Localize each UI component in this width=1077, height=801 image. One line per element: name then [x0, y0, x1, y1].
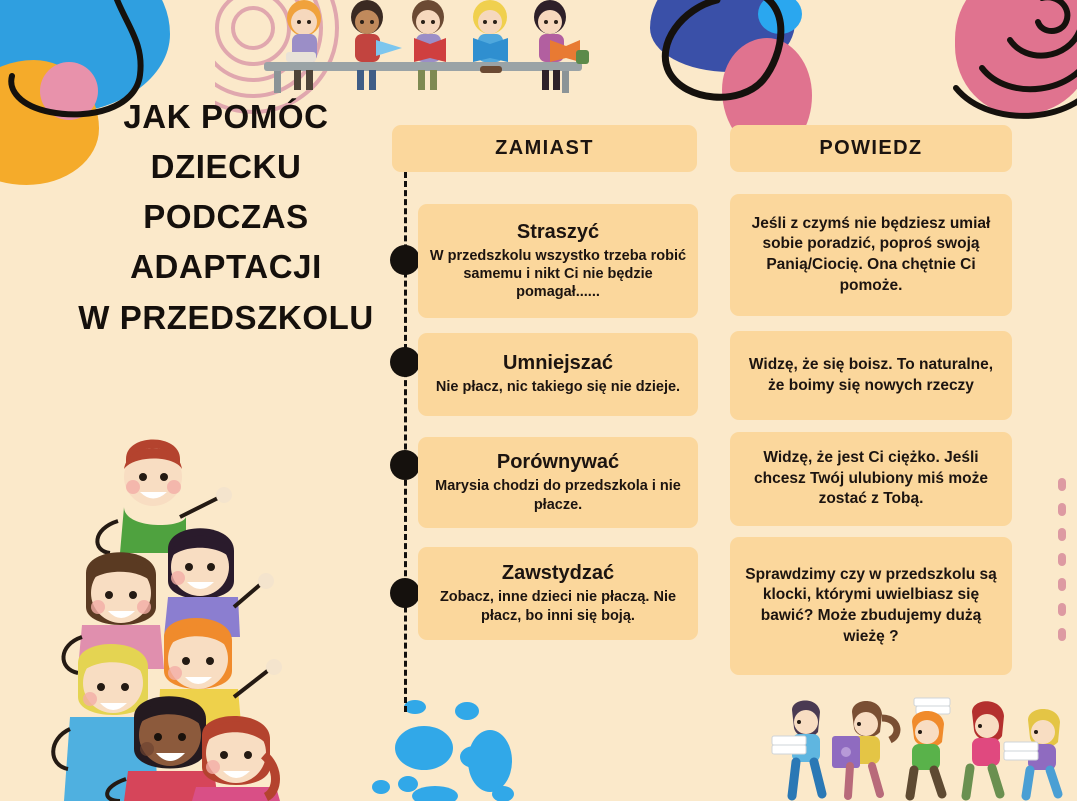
infographic-poster: JAK POMÓC DZIECKU PODCZAS ADAPTACJI W PR…	[0, 0, 1077, 801]
title-line: PODCZAS	[56, 192, 396, 242]
instead-title: Straszyć	[517, 221, 599, 244]
say-card: Jeśli z czymś nie będziesz umiał sobie p…	[730, 194, 1012, 316]
pink-dot	[1058, 603, 1066, 616]
column-header-powiedz: POWIEDZ	[730, 125, 1012, 172]
column-header-zamiast: ZAMIAST	[392, 125, 697, 172]
pink-blob-right-decoration	[955, 0, 1077, 115]
timeline-bullet	[390, 245, 420, 275]
black-loop-decoration	[655, 0, 845, 121]
say-body: Jeśli z czymś nie będziesz umiał sobie p…	[740, 214, 1002, 296]
instead-body: W przedszkolu wszystko trzeba robić same…	[428, 247, 688, 302]
pink-dot	[1058, 478, 1066, 491]
cyan-circle-decoration	[758, 0, 802, 34]
children-reading-on-bench-illustration	[250, 0, 595, 96]
title-line: DZIECKU	[56, 142, 396, 192]
instead-body: Nie płacz, nic takiego się nie dzieje.	[436, 378, 680, 396]
pink-dot	[1058, 528, 1066, 541]
pink-dot	[1058, 578, 1066, 591]
title-line: W PRZEDSZKOLU	[56, 293, 396, 343]
pink-dot	[1058, 503, 1066, 516]
say-body: Widzę, że jest Ci ciężko. Jeśli chcesz T…	[740, 448, 1002, 510]
say-body: Widzę, że się boisz. To naturalne, że bo…	[740, 355, 1002, 396]
instead-card: Zawstydzać Zobacz, inne dzieci nie płacz…	[418, 547, 698, 640]
blue-splatter-blob	[468, 730, 512, 792]
page-title: JAK POMÓC DZIECKU PODCZAS ADAPTACJI W PR…	[56, 92, 396, 343]
timeline-bullet	[390, 347, 420, 377]
blue-splatter-blob	[492, 786, 514, 801]
instead-card: Umniejszać Nie płacz, nic takiego się ni…	[418, 333, 698, 416]
say-card: Widzę, że się boisz. To naturalne, że bo…	[730, 331, 1012, 420]
blue-splatter-blob	[395, 726, 453, 770]
children-carrying-books-illustration	[770, 696, 1070, 801]
say-body: Sprawdzimy czy w przedszkolu są klocki, …	[740, 565, 1002, 647]
timeline-bullet	[390, 578, 420, 608]
title-line: JAK POMÓC	[56, 92, 396, 142]
instead-body: Zobacz, inne dzieci nie płaczą. Nie płac…	[428, 588, 688, 625]
group-of-children-illustration	[48, 425, 348, 801]
instead-title: Zawstydzać	[502, 562, 614, 585]
timeline-bullet	[390, 450, 420, 480]
say-card: Sprawdzimy czy w przedszkolu są klocki, …	[730, 537, 1012, 675]
blue-splatter-blob	[412, 786, 458, 801]
say-card: Widzę, że jest Ci ciężko. Jeśli chcesz T…	[730, 432, 1012, 526]
black-spiral-decoration	[930, 0, 1077, 130]
instead-title: Umniejszać	[503, 352, 613, 375]
instead-card: Porównywać Marysia chodzi do przedszkola…	[418, 437, 698, 528]
blue-splatter-blob	[455, 702, 479, 720]
instead-title: Porównywać	[497, 451, 619, 474]
instead-card: Straszyć W przedszkolu wszystko trzeba r…	[418, 204, 698, 318]
title-line: ADAPTACJI	[56, 242, 396, 292]
instead-body: Marysia chodzi do przedszkola i nie płac…	[428, 477, 688, 514]
navy-blob-decoration	[650, 0, 795, 72]
pink-dot	[1058, 628, 1066, 641]
pink-dot	[1058, 553, 1066, 566]
blue-splatter-blob	[372, 780, 390, 794]
blue-splatter-blob	[404, 700, 426, 714]
